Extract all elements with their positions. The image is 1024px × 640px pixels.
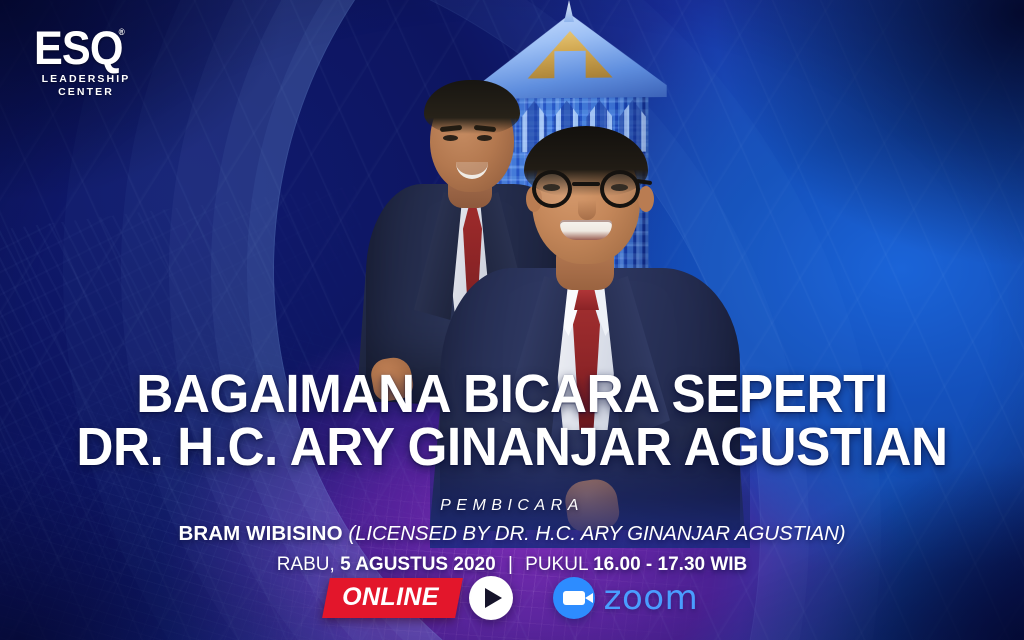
- esq-logo: ESQ ® LEADERSHIP CENTER: [34, 26, 154, 99]
- video-camera-icon: [563, 591, 585, 605]
- schedule-time-label: PUKUL: [525, 554, 588, 575]
- zoom-icon-circle: [553, 577, 595, 619]
- schedule-date: 5 AGUSTUS 2020: [340, 554, 496, 575]
- webinar-promo-banner: ESQ ® LEADERSHIP CENTER BAGAIMANA BICARA…: [0, 0, 1024, 640]
- esq-logo-subtitle: LEADERSHIP CENTER: [34, 73, 138, 99]
- zoom-logo: zoom: [553, 577, 699, 619]
- schedule-line: RABU, 5 AGUSTUS 2020 | PUKUL 16.00 - 17.…: [0, 554, 1024, 576]
- schedule-day: RABU,: [277, 554, 335, 575]
- online-badge: ONLINE: [322, 578, 463, 618]
- promo-text-block: BAGAIMANA BICARA SEPERTI DR. H.C. ARY GI…: [0, 368, 1024, 576]
- platform-badges-row: ONLINE zoom: [0, 576, 1024, 620]
- play-button[interactable]: [469, 576, 513, 620]
- schedule-separator: |: [501, 554, 520, 576]
- zoom-wordmark: zoom: [604, 581, 699, 615]
- esq-logo-text: ESQ: [34, 21, 123, 74]
- esq-logo-subtitle-line1: LEADERSHIP: [34, 73, 138, 86]
- schedule-time: 16.00 - 17.30 WIB: [593, 554, 747, 575]
- online-badge-label: ONLINE: [342, 583, 439, 612]
- play-icon: [485, 588, 502, 608]
- esq-logo-subtitle-line2: CENTER: [34, 86, 138, 99]
- speaker-name: BRAM WIBISINO: [178, 522, 342, 545]
- title-line-2: DR. H.C. ARY GINANJAR AGUSTIAN: [26, 421, 999, 474]
- esq-logo-wordmark: ESQ ®: [34, 26, 144, 69]
- title-line-1: BAGAIMANA BICARA SEPERTI: [26, 368, 999, 421]
- speaker-license: (LICENSED BY DR. H.C. ARY GINANJAR AGUST…: [348, 522, 845, 545]
- speaker-credit: BRAM WIBISINO (LICENSED BY DR. H.C. ARY …: [0, 522, 1024, 546]
- registered-trademark-icon: ®: [119, 28, 125, 36]
- speaker-label: PEMBICARA: [0, 497, 1024, 515]
- page-title: BAGAIMANA BICARA SEPERTI DR. H.C. ARY GI…: [26, 368, 999, 475]
